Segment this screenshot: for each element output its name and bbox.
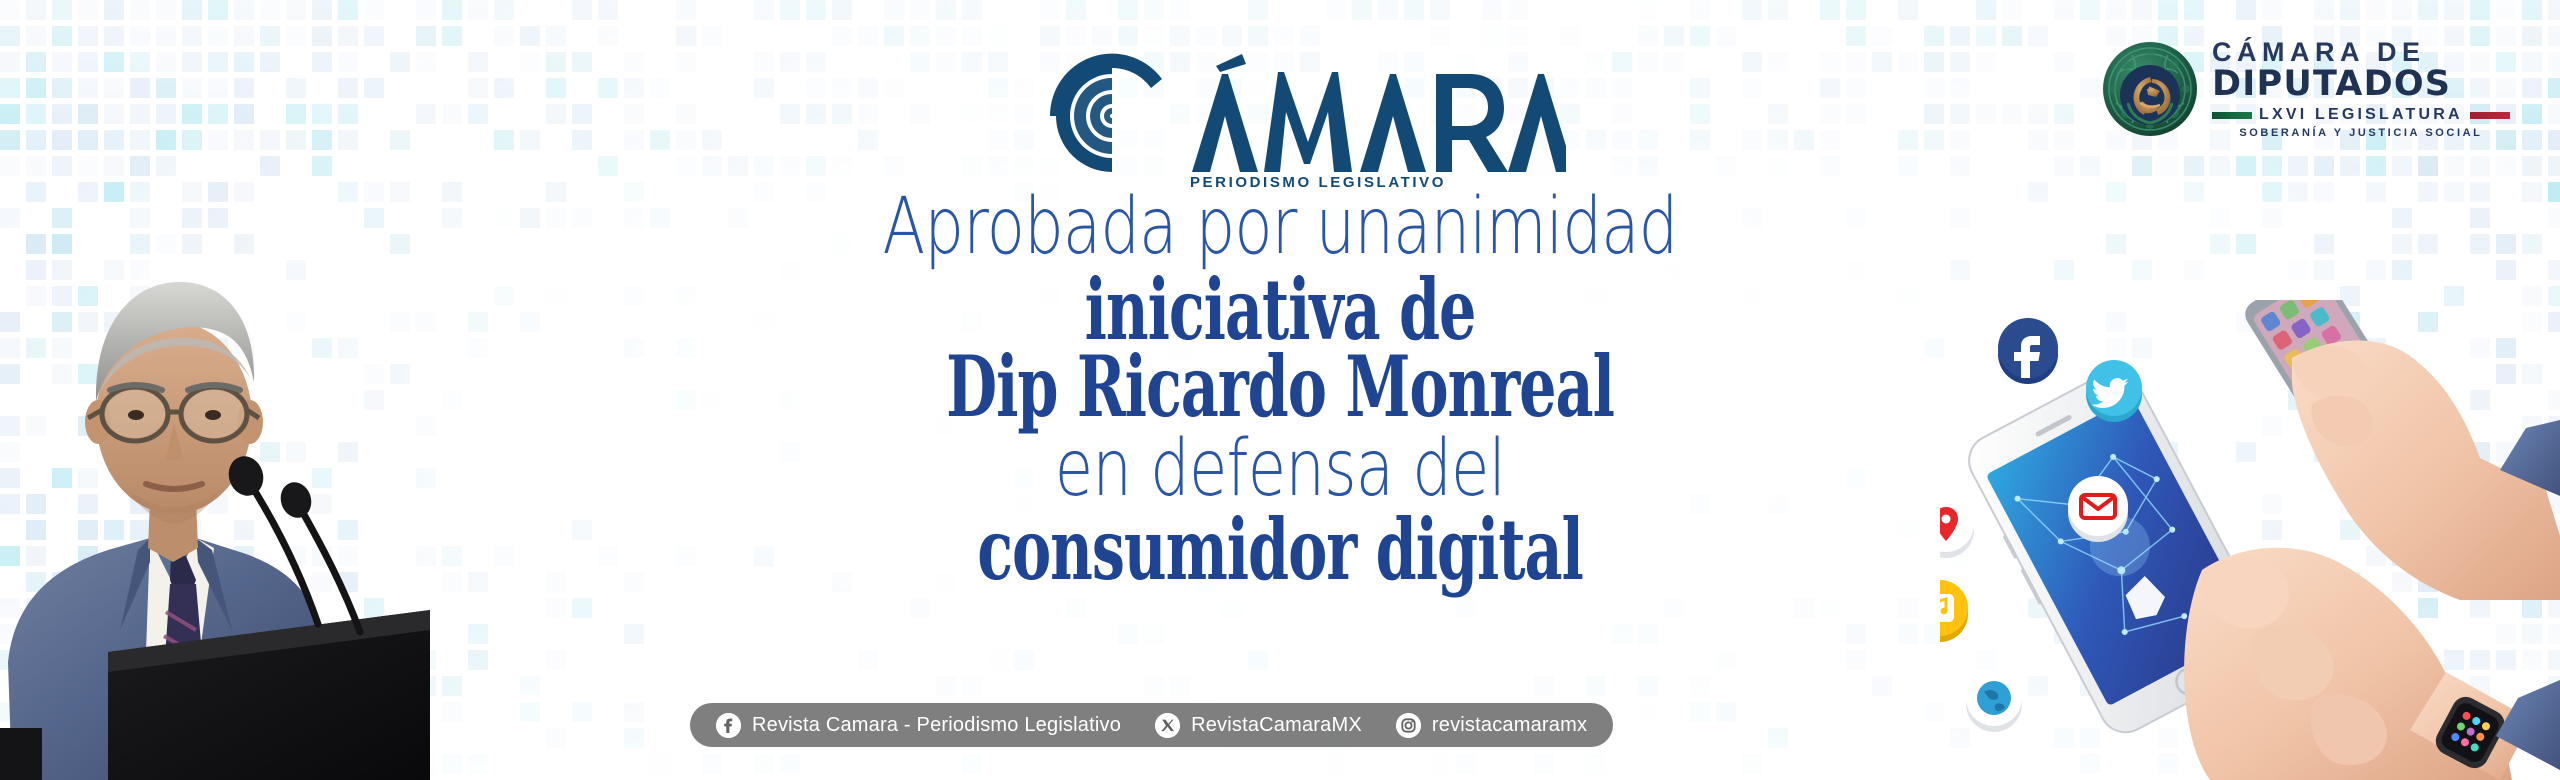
social-item-x[interactable]: RevistaCamaraMX [1155,713,1362,738]
x-handle: RevistaCamaraMX [1191,714,1362,737]
smartphone-hands-photo [1940,300,2560,780]
music-bubble-icon [1940,580,1968,642]
globe-bubble-icon [1966,670,2022,732]
mexican-eagle-seal-icon [2102,41,2198,137]
headline-line-4: en defensa del [768,432,1792,507]
instagram-handle: revistacamaramx [1432,714,1587,737]
green-bar [2212,112,2252,119]
headline-block: Aprobada por unanimidad iniciativa de Di… [640,190,1920,590]
deputy-podium-photo [0,232,430,780]
camara-brand-logo: PERIODISMO LEGISLATIVO [1046,38,1566,188]
legislature-row: LXVI LEGISLATURA [2212,106,2510,124]
headline-line-5: consumidor digital [832,509,1728,590]
social-item-facebook[interactable]: Revista Camara - Periodismo Legislativo [716,713,1121,738]
facebook-handle: Revista Camara - Periodismo Legislativo [752,714,1121,737]
facebook-bubble-icon [1998,318,2058,384]
legislature-label: LXVI LEGISLATURA [2259,106,2463,124]
social-item-instagram[interactable]: revistacamaramx [1396,713,1587,738]
diputados-line1: CÁMARA DE [2212,39,2426,66]
diputados-line2: DIPUTADOS [2212,67,2451,102]
red-bar [2470,112,2510,119]
x-twitter-icon [1155,713,1180,738]
facebook-icon [716,713,741,738]
banner-root: PERIODISMO LEGISLATIVO [0,0,2560,780]
location-pin-bubble-icon [1940,496,1974,558]
headline-line-3: Dip Ricardo Monreal [832,346,1728,427]
twitter-bubble-icon [2086,360,2142,422]
headline-line-1: Aprobada por unanimidad [768,190,1792,265]
camara-diputados-logo: CÁMARA DE DIPUTADOS LXVI LEGISLATURA SOB… [2102,34,2532,144]
instagram-icon [1396,713,1421,738]
motto-label: SOBERANÍA Y JUSTICIA SOCIAL [2239,127,2482,139]
email-bubble-icon [2068,476,2128,542]
social-handles-bar: Revista Camara - Periodismo Legislativo … [690,703,1613,747]
